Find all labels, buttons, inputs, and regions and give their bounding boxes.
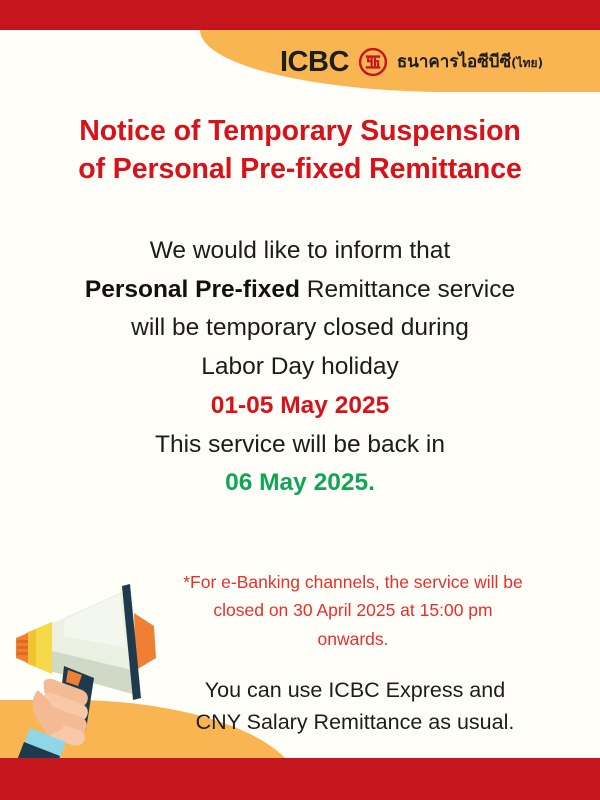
closing-note: You can use ICBC Express and CNY Salary … [120, 675, 590, 739]
body-line-6: This service will be back in [0, 426, 600, 465]
notice-poster: ICBC ธนาคารไอซีบีซี(ไทย) Notice of Tempo… [0, 0, 600, 800]
body-line-2-bold: Personal Pre-fixed [85, 276, 300, 303]
icbc-thai-main: ธนาคารไอซีบีซี [397, 52, 511, 72]
footnote-line-2: closed on 30 April 2025 at 15:00 pm [118, 596, 588, 624]
footnote-line-1: *For e-Banking channels, the service wil… [118, 568, 588, 596]
icbc-logo: ICBC ธนาคารไอซีบีซี(ไทย) [280, 38, 592, 86]
closing-line-2: CNY Salary Remittance as usual. [120, 707, 590, 739]
service-return-date: 06 May 2025. [0, 464, 600, 503]
top-red-bar [0, 0, 600, 30]
bottom-red-bar [0, 758, 600, 800]
title-line-2: of Personal Pre-fixed Remittance [0, 151, 600, 189]
closing-line-1: You can use ICBC Express and [120, 675, 590, 707]
body-line-1: We would like to inform that [0, 232, 600, 271]
title-line-1: Notice of Temporary Suspension [0, 113, 600, 151]
body-line-3: will be temporary closed during [0, 309, 600, 348]
page-title: Notice of Temporary Suspension of Person… [0, 113, 600, 189]
footnote-line-3: onwards. [118, 625, 588, 653]
body-line-2: Personal Pre-fixed Remittance service [0, 271, 600, 310]
footnote: *For e-Banking channels, the service wil… [118, 568, 588, 653]
icbc-emblem-icon [358, 47, 388, 77]
suspension-dates: 01-05 May 2025 [0, 387, 600, 426]
body-line-2-rest: Remittance service [300, 276, 515, 303]
body-line-4: Labor Day holiday [0, 348, 600, 387]
icbc-thai-name: ธนาคารไอซีบีซี(ไทย) [397, 54, 543, 71]
icbc-thai-suffix: (ไทย) [511, 56, 543, 70]
notice-body: We would like to inform that Personal Pr… [0, 232, 600, 503]
icbc-wordmark: ICBC [280, 48, 349, 77]
